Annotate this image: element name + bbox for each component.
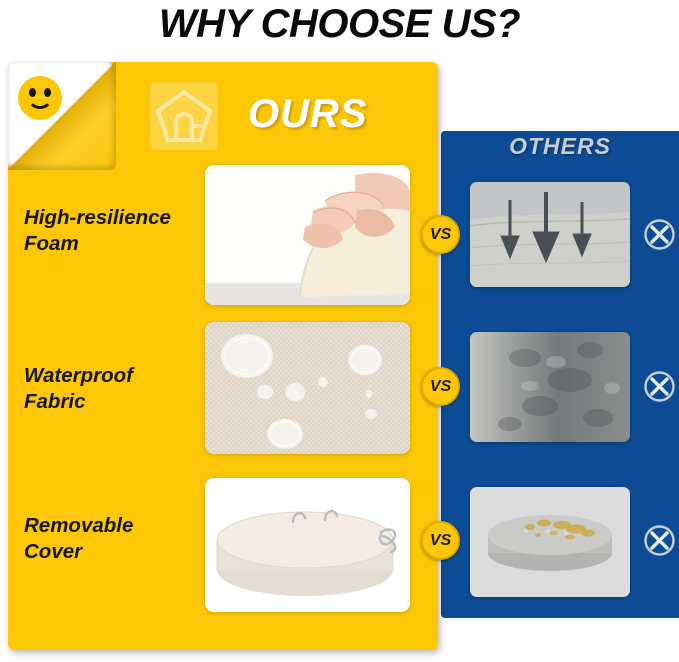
circle-x-icon [643,524,676,557]
house-pentagon-logo-icon [150,82,218,150]
feature-label: High-resilienceFoam [24,205,199,257]
vs-badge: VS [421,521,460,560]
ours-product-photo [205,165,410,305]
others-product-photo [470,332,630,442]
ours-product-photo [205,478,410,612]
others-header-label: OTHERS [441,133,679,160]
vs-badge: VS [421,367,460,406]
others-product-photo [470,182,630,287]
feature-label: WaterproofFabric [24,363,199,415]
others-product-photo [470,487,630,597]
ours-product-photo [205,322,410,454]
page-peel-corner [8,62,116,170]
circle-x-icon [643,218,676,251]
vs-badge: VS [421,215,460,254]
feature-label: RemovableCover [24,513,199,565]
circle-x-icon [643,370,676,403]
comparison-board: OTHERS OURS High-resilienceFoam [0,0,679,662]
ours-header-label: OURS [248,92,368,137]
